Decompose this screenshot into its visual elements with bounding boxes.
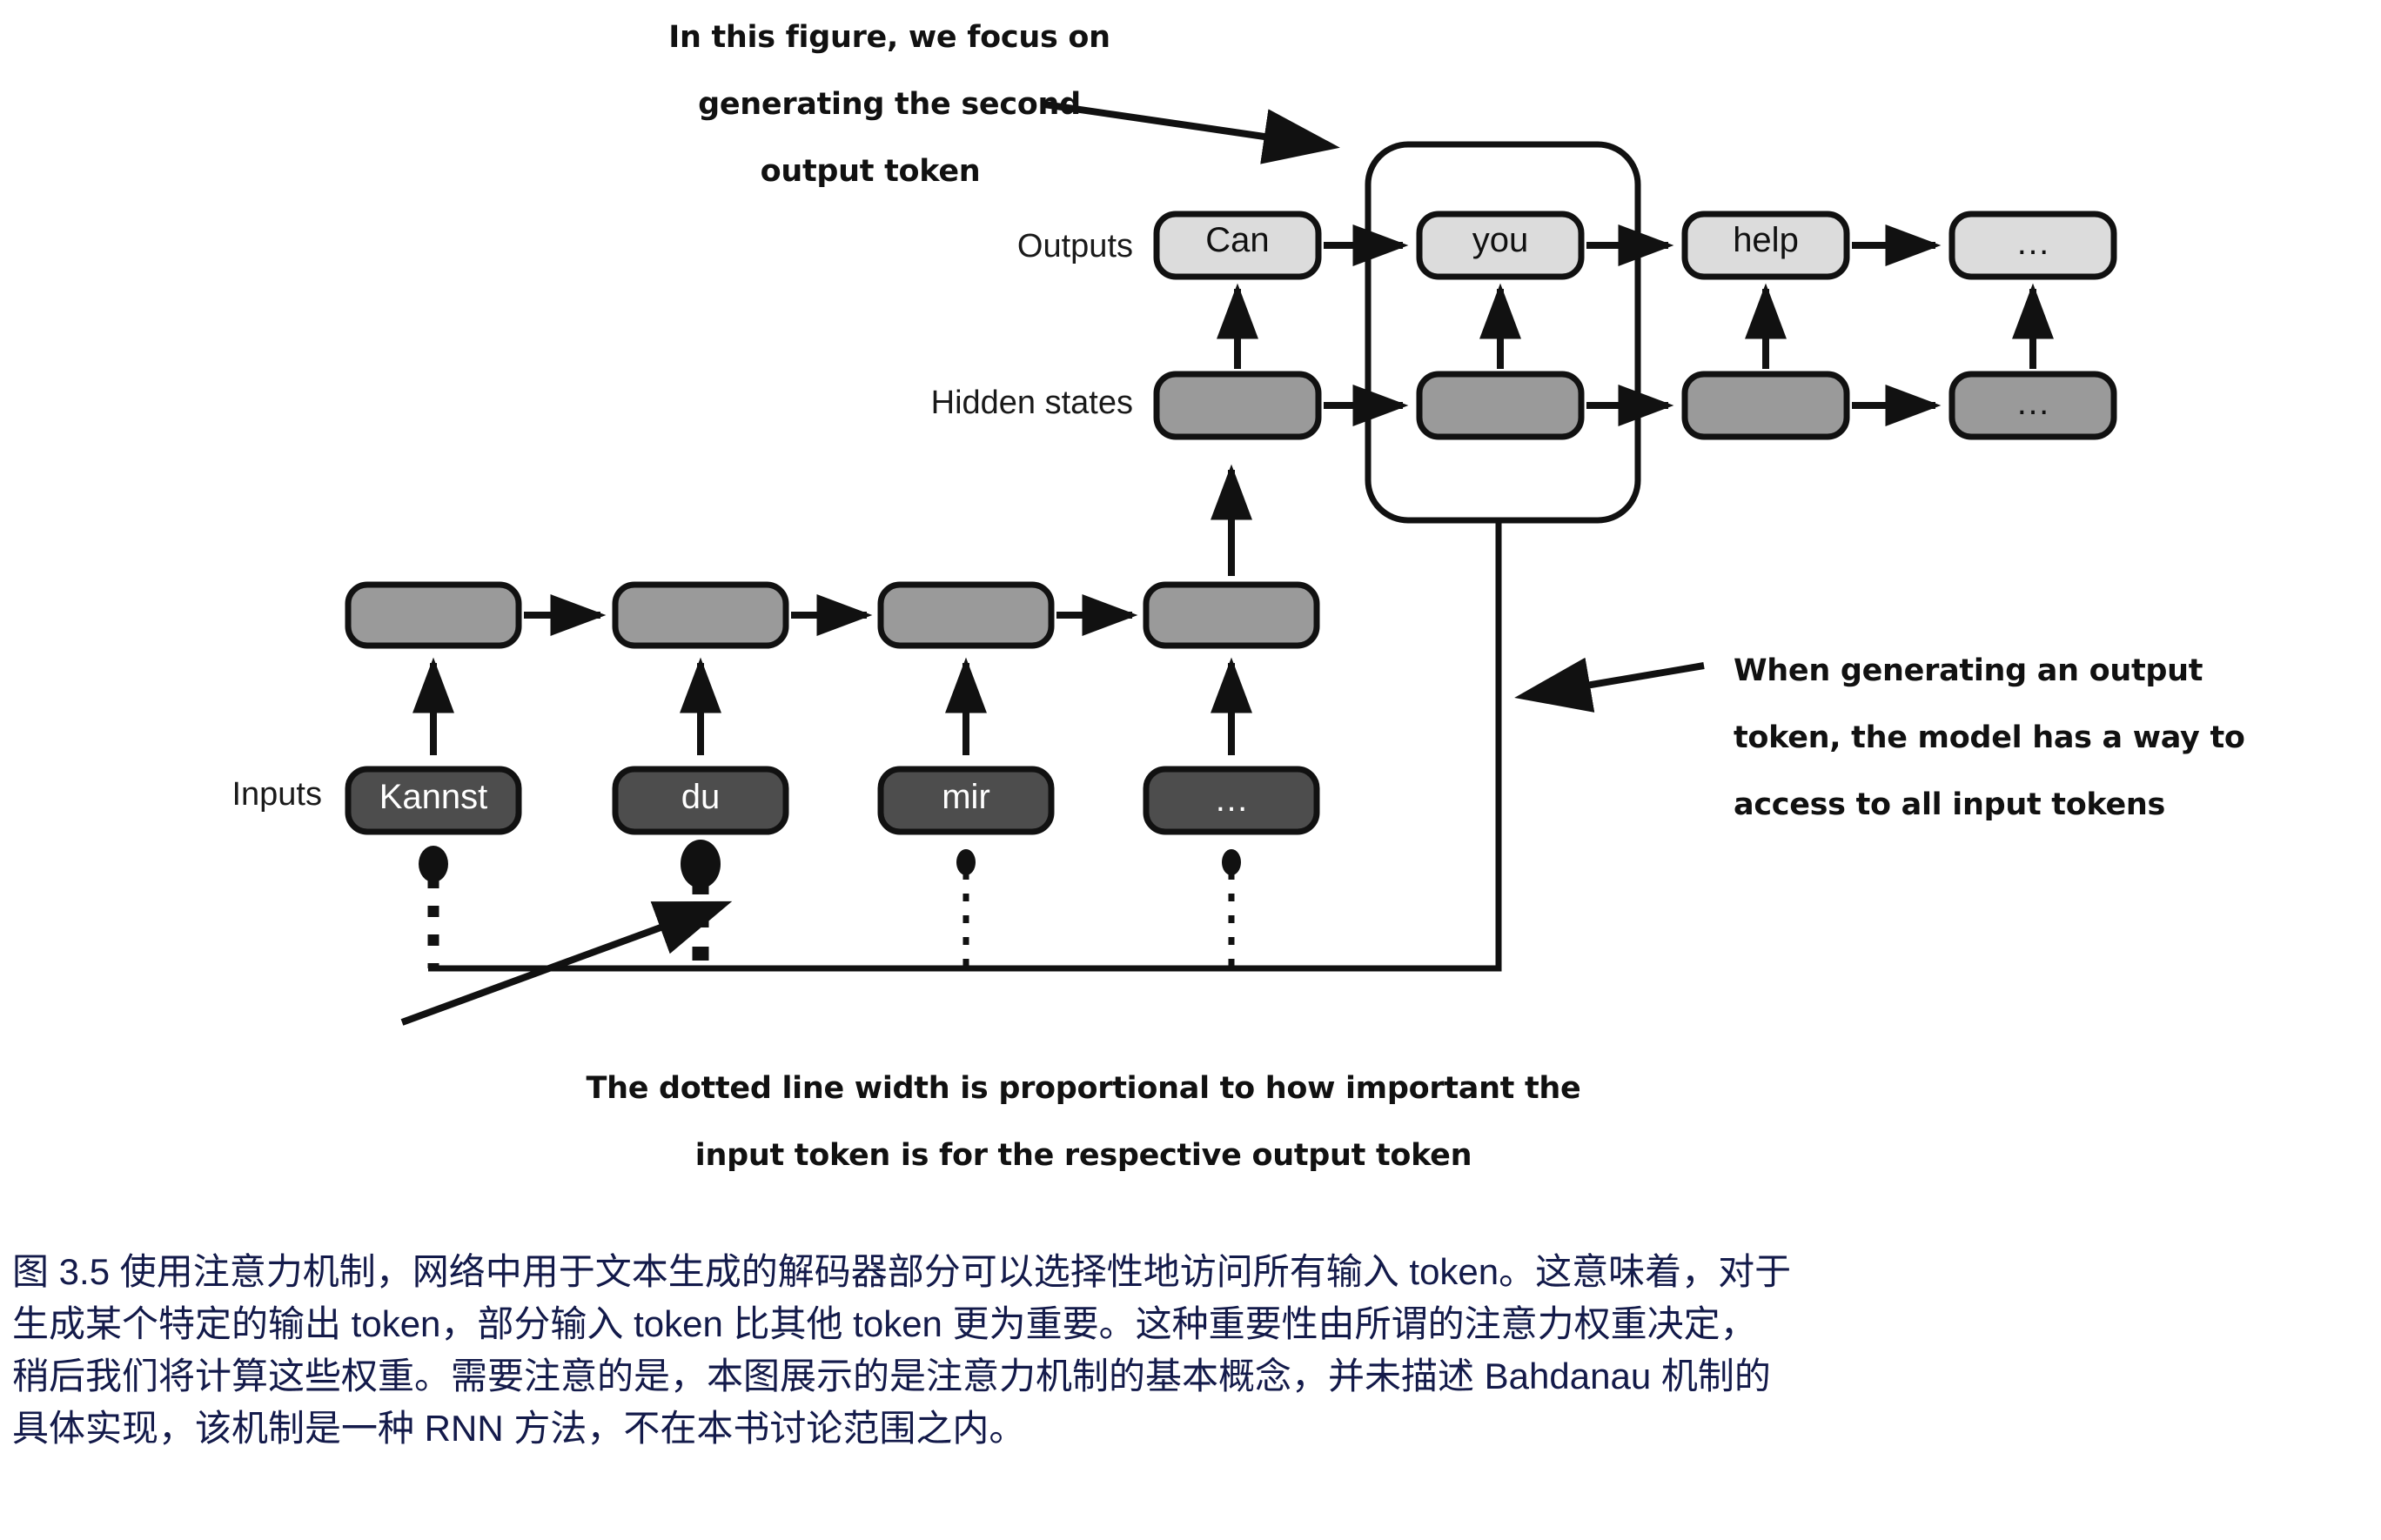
decoder-hidden-box-label: … (2015, 384, 2050, 422)
encoder-hidden-box-3 (1146, 585, 1317, 646)
output-box-3: … (1952, 214, 2114, 277)
annotation-right-line-3: access to all input tokens (1734, 787, 2165, 822)
encoder-hidden-box-0 (348, 585, 519, 646)
output-box-label: help (1733, 221, 1799, 259)
caption-line-2: 生成某个特定的输出 token，部分输入 token 比其他 token 更为重… (12, 1298, 2369, 1350)
input-box-label: … (1214, 780, 1249, 819)
annotation-top-line-1: In this figure, we focus on (668, 20, 1110, 55)
row-label-inputs: Inputs (231, 776, 322, 813)
annotation-bottom: The dotted line width is proportional to… (587, 1071, 1581, 1173)
row-label-hidden-states: Hidden states (931, 385, 1133, 421)
annotation-right: When generating an output token, the mod… (1734, 653, 2245, 822)
annotation-right-leader (1525, 666, 1704, 696)
output-box-1: you (1419, 214, 1581, 277)
output-box-0: Can (1157, 214, 1318, 277)
input-box-0: Kannst (348, 769, 519, 832)
decoder-hidden-box-1 (1419, 374, 1581, 437)
row-label-outputs: Outputs (1017, 228, 1133, 264)
figure-caption: 图 3.5 使用注意力机制，网络中用于文本生成的解码器部分可以选择性地访问所有输… (12, 1246, 2369, 1455)
attention-line-mir (956, 849, 976, 968)
decoder-hidden-box-3: … (1952, 374, 2114, 437)
decoder-hidden-box-0 (1157, 374, 1318, 437)
annotation-top: In this figure, we focus on generating t… (668, 20, 1110, 189)
annotation-right-line-1: When generating an output (1734, 653, 2203, 688)
annotation-bottom-line-1: The dotted line width is proportional to… (587, 1071, 1581, 1106)
input-box-label: du (681, 778, 721, 816)
annotation-top-leader (1044, 104, 1330, 146)
attention-line-kannst (419, 846, 448, 968)
attention-line-du (681, 840, 721, 968)
attention-line-ellipsis (1222, 849, 1241, 968)
output-box-label: Can (1205, 221, 1269, 259)
input-box-label: Kannst (379, 778, 488, 816)
encoder-hidden-box-1 (615, 585, 786, 646)
caption-line-1: 图 3.5 使用注意力机制，网络中用于文本生成的解码器部分可以选择性地访问所有输… (12, 1246, 2369, 1298)
annotation-right-line-2: token, the model has a way to (1734, 720, 2245, 755)
encoder-hidden-box-2 (881, 585, 1051, 646)
input-box-1: du (615, 769, 786, 832)
annotation-top-line-3: output token (761, 154, 981, 189)
input-box-label: mir (942, 778, 990, 816)
output-box-2: help (1685, 214, 1847, 277)
annotation-bottom-line-2: input token is for the respective output… (695, 1138, 1472, 1173)
output-box-label: you (1472, 221, 1529, 259)
input-box-2: mir (881, 769, 1051, 832)
annotation-bottom-leader (402, 905, 722, 1022)
annotation-top-line-2: generating the second (698, 87, 1081, 122)
figure-page: Outputs Hidden states Inputs Can you hel… (0, 0, 2381, 1540)
caption-line-3: 稍后我们将计算这些权重。需要注意的是，本图展示的是注意力机制的基本概念，并未描述… (12, 1350, 2369, 1403)
output-box-label: … (2015, 224, 2050, 262)
caption-line-4: 具体实现，该机制是一种 RNN 方法，不在本书讨论范围之内。 (12, 1403, 2369, 1455)
decoder-hidden-box-2 (1685, 374, 1847, 437)
input-box-3: … (1146, 769, 1317, 832)
